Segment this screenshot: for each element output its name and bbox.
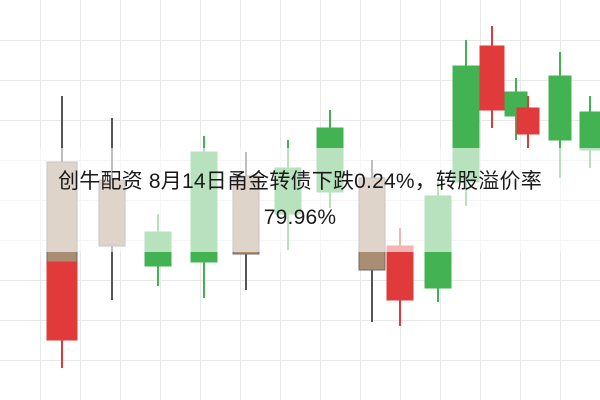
- candle-body: [549, 76, 571, 140]
- caption-line-2: 79.96%: [264, 200, 336, 236]
- candle-body: [47, 262, 77, 340]
- candle-body: [480, 46, 504, 110]
- caption-text: 创牛配资 8月14日甬金转债下跌0.24%，转股溢价率 79.96%: [0, 148, 600, 252]
- candle: [47, 262, 77, 368]
- candle-body: [580, 112, 600, 150]
- candle: [480, 26, 504, 128]
- caption-line-1: 创牛配资 8月14日甬金转债下跌0.24%，转股溢价率: [58, 164, 542, 200]
- chart-screenshot: 创牛配资 8月14日甬金转债下跌0.24%，转股溢价率 79.96%: [0, 0, 600, 400]
- candle-body: [517, 108, 539, 134]
- candle-body: [387, 246, 413, 300]
